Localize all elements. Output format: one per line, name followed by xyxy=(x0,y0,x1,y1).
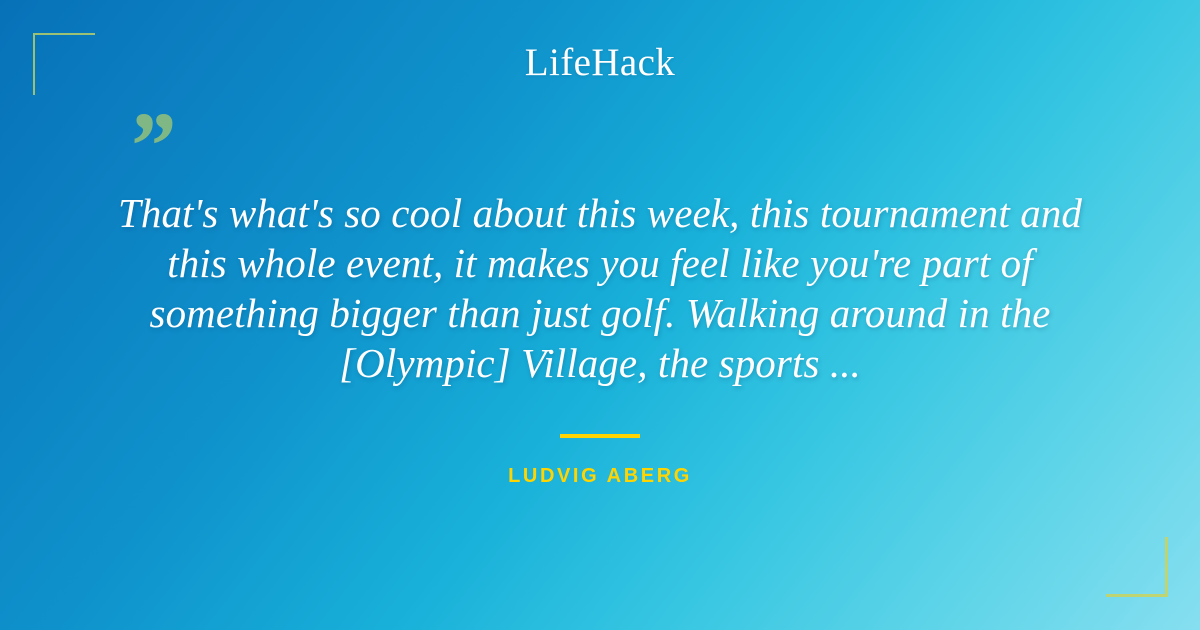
quote-text: That's what's so cool about this week, t… xyxy=(100,188,1100,388)
quote-card: LifeHack ” That's what's so cool about t… xyxy=(0,0,1200,630)
brand-logo-lifehack: LifeHack xyxy=(0,40,1200,86)
quote-mark-icon: ” xyxy=(126,98,174,194)
corner-bracket-bottom-right-icon xyxy=(1106,537,1168,597)
attribution-divider xyxy=(560,434,640,438)
quote-block: That's what's so cool about this week, t… xyxy=(100,188,1100,388)
quote-author: LUDVIG ABERG xyxy=(0,463,1200,489)
